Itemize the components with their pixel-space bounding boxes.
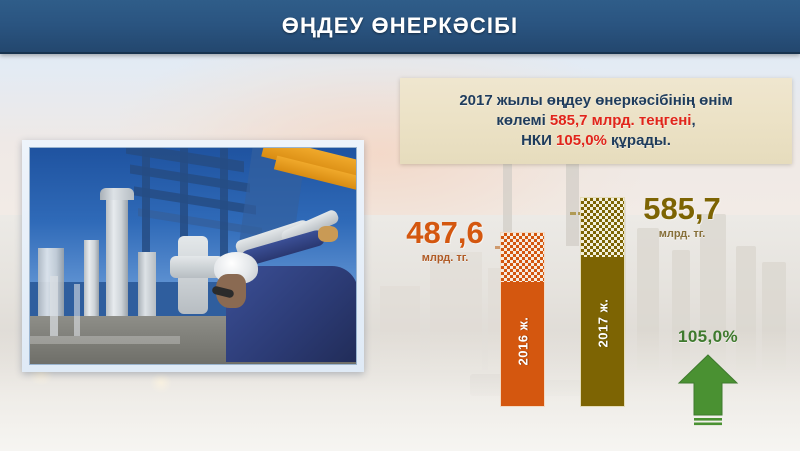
value-unit-2017: млрд. тг. xyxy=(627,228,737,240)
slide-root: ӨҢДЕУ ӨНЕРКӘСІБІ xyxy=(0,0,800,451)
header-banner: ӨҢДЕУ ӨНЕРКӘСІБІ xyxy=(0,0,800,54)
value-number-2017: 585,7 xyxy=(627,193,737,224)
page-title: ӨҢДЕУ ӨНЕРКӘСІБІ xyxy=(282,13,518,39)
up-arrow-icon xyxy=(677,353,739,429)
callout-line-2-prefix: көлемі xyxy=(496,112,550,129)
value-label-2016: 487,6 млрд. тг. xyxy=(395,217,495,264)
refinery-worker-photo xyxy=(29,147,357,365)
bar-2016-category-label: 2016 ж. xyxy=(515,316,530,365)
callout-line-3: НКИ 105,0% құрады. xyxy=(521,131,671,151)
callout-line-3-prefix: НКИ xyxy=(521,132,556,149)
bar-2017-checker-top xyxy=(580,197,625,257)
bar-2016-checker-top xyxy=(500,232,545,282)
value-number-2016: 487,6 xyxy=(395,217,495,248)
bar-2017-category-label: 2017 ж. xyxy=(595,299,610,348)
callout-index-value: 105,0% xyxy=(556,132,607,149)
callout-line-1: 2017 жылы өңдеу өнеркәсібінің өнім xyxy=(459,91,732,111)
growth-percent-label: 105,0% xyxy=(663,327,753,347)
callout-line-3-suffix: құрады. xyxy=(607,132,671,149)
summary-callout: 2017 жылы өңдеу өнеркәсібінің өнім көлем… xyxy=(400,78,792,164)
value-unit-2016: млрд. тг. xyxy=(395,252,495,264)
callout-volume-value: 585,7 млрд. теңгені xyxy=(550,112,692,129)
bar-chart: 487,6 млрд. тг. 585,7 млрд. тг. 2016 ж. … xyxy=(395,185,800,425)
growth-indicator: 105,0% xyxy=(663,327,753,429)
callout-line-2-suffix: , xyxy=(691,112,695,129)
photo-card xyxy=(22,140,364,372)
bar-2017[interactable]: 2017 ж. xyxy=(580,197,625,407)
callout-line-1-text: 2017 жылы өңдеу өнеркәсібінің өнім xyxy=(459,92,732,109)
value-label-2017: 585,7 млрд. тг. xyxy=(627,193,737,240)
callout-line-2: көлемі 585,7 млрд. теңгені, xyxy=(496,111,695,131)
bar-2016[interactable]: 2016 ж. xyxy=(500,232,545,407)
